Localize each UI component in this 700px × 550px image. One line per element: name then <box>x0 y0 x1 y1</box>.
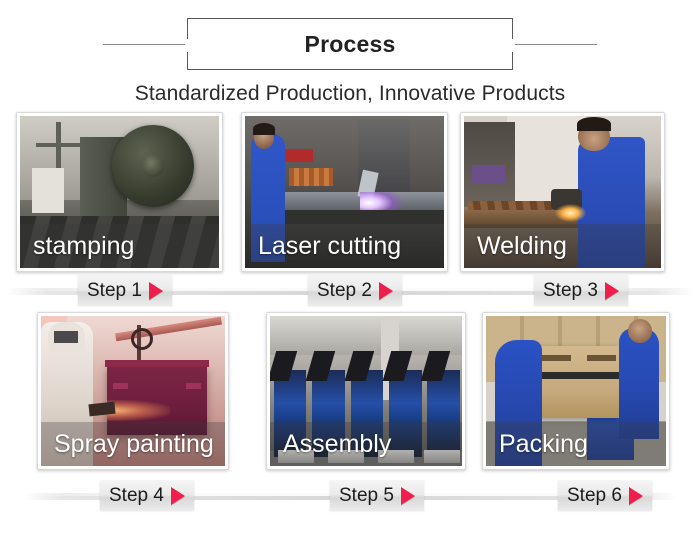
process-card-spray-painting[interactable]: Spray painting <box>37 312 229 470</box>
welding-spark <box>555 204 587 222</box>
packing-photo: Packing <box>486 316 666 466</box>
worker-head <box>578 121 610 151</box>
step-chip-3[interactable]: Step 3 <box>534 276 628 306</box>
process-card-assembly[interactable]: Assembly <box>266 312 466 470</box>
card-caption-bar: Packing <box>486 422 666 466</box>
step-chip-1[interactable]: Step 1 <box>78 276 172 306</box>
carton-marking <box>542 355 571 361</box>
stamping-press-photo: stamping <box>20 116 219 268</box>
triangle-right-icon <box>401 487 415 505</box>
card-caption-bar: Laser cutting <box>245 224 444 268</box>
card-caption: Assembly <box>270 430 391 459</box>
triangle-right-icon <box>379 282 393 300</box>
card-caption: Spray painting <box>41 430 214 459</box>
machine-rail <box>265 210 444 224</box>
hood-visor <box>54 331 78 343</box>
triangle-right-icon <box>629 487 643 505</box>
title-row: Process <box>0 16 700 72</box>
paint-mist <box>107 400 170 421</box>
step-label: Step 6 <box>567 485 622 507</box>
red-panel <box>281 149 313 161</box>
card-caption-bar: Welding <box>464 224 661 268</box>
page-subtitle: Standardized Production, Innovative Prod… <box>0 82 700 106</box>
card-caption: Welding <box>464 232 567 261</box>
page-title: Process <box>305 31 396 58</box>
control-cabinet <box>32 168 64 214</box>
purple-bin <box>472 165 505 183</box>
step-label: Step 5 <box>339 485 394 507</box>
carton-tape <box>536 372 619 380</box>
triangle-right-icon <box>171 487 185 505</box>
process-card-packing[interactable]: Packing <box>482 312 670 470</box>
step-chip-4[interactable]: Step 4 <box>100 481 194 511</box>
worker-head <box>628 319 651 343</box>
triangle-right-icon <box>149 282 163 300</box>
carton-marking <box>587 355 616 361</box>
spray-painting-photo: Spray painting <box>41 316 225 466</box>
page-header: Process Standardized Production, Innovat… <box>0 0 700 110</box>
card-caption-bar: stamping <box>20 224 219 268</box>
step-bar-row-2: Step 4 Step 5 Step 6 <box>24 481 676 511</box>
assembly-line-photo: Assembly <box>270 316 462 466</box>
step-bar-row-1: Step 1 Step 2 Step 3 <box>6 276 694 306</box>
process-card-laser-cutting[interactable]: Laser cutting <box>241 112 448 272</box>
step-label: Step 2 <box>317 280 372 302</box>
card-caption: stamping <box>20 232 134 261</box>
process-card-stamping[interactable]: stamping <box>16 112 223 272</box>
copper-stock <box>289 168 333 186</box>
step-label: Step 3 <box>543 280 598 302</box>
panel-tab <box>186 383 201 389</box>
card-caption: Laser cutting <box>245 232 401 261</box>
step-chip-5[interactable]: Step 5 <box>330 481 424 511</box>
card-caption: Packing <box>486 430 588 459</box>
step-label: Step 1 <box>87 280 142 302</box>
process-card-welding[interactable]: Welding <box>460 112 665 272</box>
title-box: Process <box>187 18 513 70</box>
worker-head <box>254 127 274 150</box>
panel-tab <box>113 383 128 389</box>
step-chip-6[interactable]: Step 6 <box>558 481 652 511</box>
flywheel <box>112 125 194 207</box>
ceiling <box>270 316 462 355</box>
laser-cutting-photo: Laser cutting <box>245 116 444 268</box>
card-caption-bar: Assembly <box>270 422 462 466</box>
step-chip-2[interactable]: Step 2 <box>308 276 402 306</box>
step-label: Step 4 <box>109 485 164 507</box>
header-rule-left <box>103 44 185 45</box>
card-caption-bar: Spray painting <box>41 422 225 466</box>
welding-photo: Welding <box>464 116 661 268</box>
triangle-right-icon <box>605 282 619 300</box>
hook-ring <box>131 328 153 350</box>
header-rule-right <box>515 44 597 45</box>
